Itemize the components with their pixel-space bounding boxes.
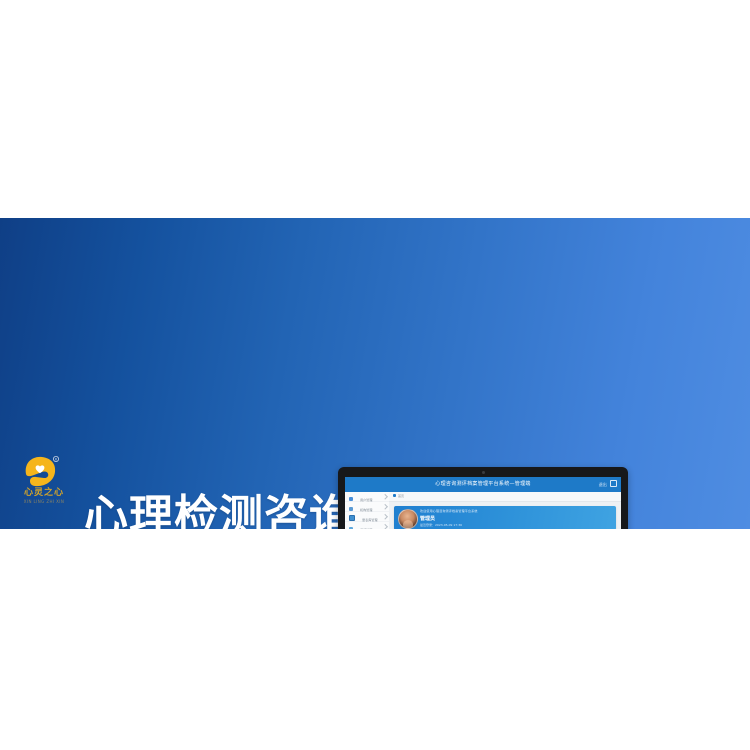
chevron-right-icon (382, 524, 387, 529)
admin-app: 心理咨询测评档案管理平台系统—管理端 退出 用户管理 (345, 477, 621, 529)
sidebar-item-assessment[interactable]: 测评管理 (345, 522, 389, 529)
welcome-username: 管理员 (420, 515, 435, 522)
admin-app-title: 心理咨询测评档案管理平台系统—管理端 (345, 477, 621, 492)
admin-main: 首页 欢迎使用心理咨询测评档案管理平台系统 管理员 最近登录：2023-05-0… (389, 492, 621, 529)
chevron-right-icon (382, 494, 387, 499)
chevron-right-icon (382, 514, 387, 519)
breadcrumb-label: 首页 (398, 494, 404, 498)
breadcrumb: 首页 (389, 492, 621, 502)
chart-icon (349, 527, 353, 529)
welcome-banner: 欢迎使用心理咨询测评档案管理平台系统 管理员 最近登录：2023-05-09 1… (394, 506, 616, 529)
welcome-greeting: 欢迎使用心理咨询测评档案管理平台系统 (420, 509, 478, 513)
logout-icon (610, 480, 617, 487)
imac-bezel: 心理咨询测评档案管理平台系统—管理端 退出 用户管理 (338, 467, 628, 529)
imac-device: 心理咨询测评档案管理平台系统—管理端 退出 用户管理 (338, 467, 628, 529)
sidebar-item-user-management[interactable]: 用户管理 (345, 492, 389, 502)
chevron-right-icon (382, 504, 387, 509)
sidebar-item-org-management[interactable]: 机构管理 (345, 502, 389, 512)
logo-mark-icon: R (20, 454, 62, 490)
promo-banner: R 心灵之心 XIN LING ZHI XIN 心理检测咨询 档案管理平台系统 … (0, 218, 750, 529)
logo-subtext: XIN LING ZHI XIN (12, 499, 76, 504)
sidebar-item-label: 测评管理 (360, 526, 372, 529)
avatar (398, 509, 418, 529)
welcome-meta: 最近登录：2023-05-09 17:36 (420, 523, 462, 527)
sidebar-item-scale-library[interactable]: 量表库管理 (345, 512, 389, 522)
logout-button[interactable]: 退出 (599, 477, 617, 492)
logout-label: 退出 (599, 482, 607, 487)
admin-sidebar[interactable]: 用户管理 机构管理 量表库管理 (345, 492, 390, 529)
logo-wordmark: 心灵之心 (12, 488, 76, 498)
building-icon (349, 507, 353, 511)
headline-line-1: 心理检测咨询 (84, 494, 354, 529)
admin-app-header: 心理咨询测评档案管理平台系统—管理端 退出 (345, 477, 621, 492)
home-icon (393, 494, 396, 497)
poster-canvas: R 心灵之心 XIN LING ZHI XIN 心理检测咨询 档案管理平台系统 … (0, 0, 750, 750)
imac-screen: 心理咨询测评档案管理平台系统—管理端 退出 用户管理 (345, 477, 621, 529)
brand-logo: R 心灵之心 XIN LING ZHI XIN (12, 452, 76, 514)
webcam-icon (482, 471, 485, 474)
user-icon (349, 497, 353, 501)
